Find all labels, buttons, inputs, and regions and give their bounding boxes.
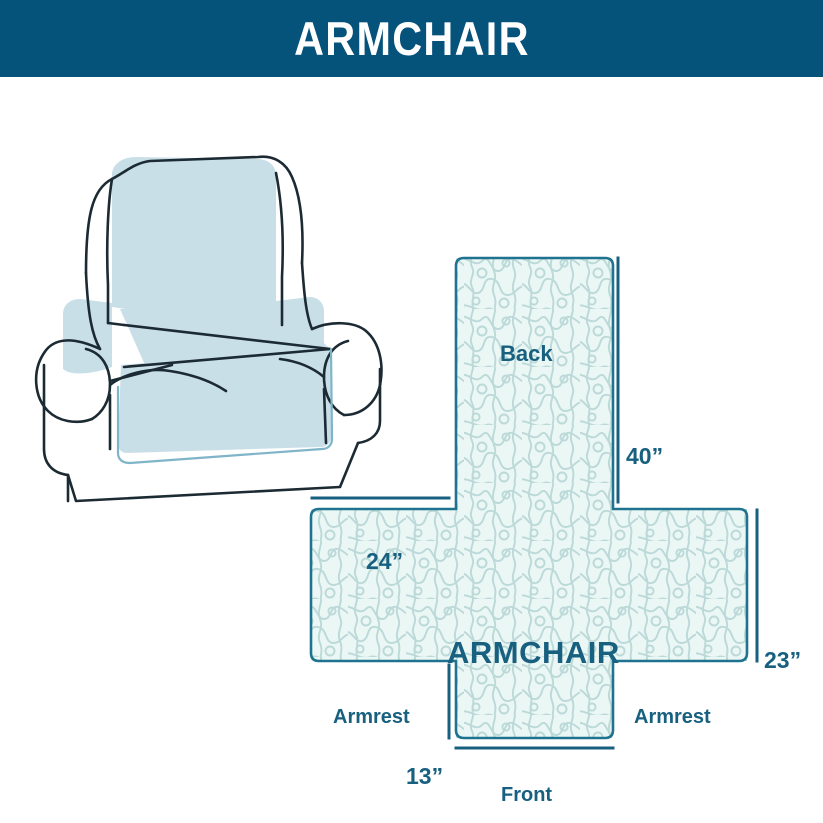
chair-base-outline — [68, 443, 358, 501]
dimension-label-back-height: 40” — [626, 445, 663, 468]
chair-back-left-seam — [107, 179, 112, 323]
dimension-label-armrest-width: 24” — [366, 550, 403, 573]
diagram-area: Back ARMCHAIR Armrest Armrest Front 40” … — [0, 77, 823, 823]
panel-label-front: Front — [501, 785, 552, 805]
panel-label-armchair: ARMCHAIR — [447, 637, 620, 668]
panel-label-armrest-left: Armrest — [333, 707, 410, 727]
panel-label-armrest-right: Armrest — [634, 707, 711, 727]
chair-back-cover — [112, 157, 276, 317]
dimension-label-center-height: 23” — [764, 649, 801, 672]
page-title: ARMCHAIR — [294, 15, 530, 62]
armchair-illustration — [36, 157, 381, 501]
panel-label-back: Back — [500, 343, 553, 365]
product-dimension-diagram-page: ARMCHAIR — [0, 0, 823, 823]
header-banner: ARMCHAIR — [0, 0, 823, 77]
dimension-label-front-height: 13” — [406, 765, 443, 788]
